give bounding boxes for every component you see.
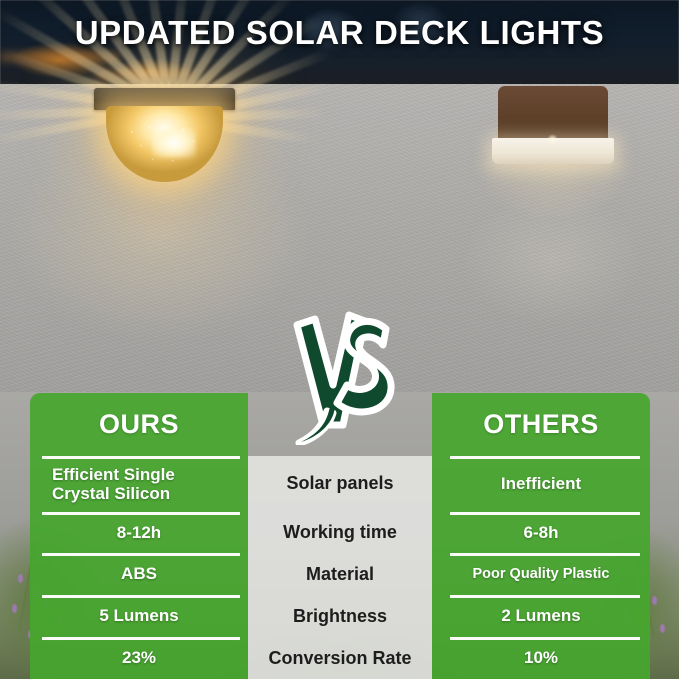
cell-others-working-time: 6-8h <box>432 512 650 554</box>
lit-solar-deck-light <box>92 88 237 188</box>
vs-badge-icon <box>289 307 401 445</box>
page-title: UPDATED SOLAR DECK LIGHTS <box>0 14 679 52</box>
row-divider <box>450 512 640 515</box>
row-divider <box>42 595 240 598</box>
row-divider <box>450 456 640 459</box>
lamp-led-filament <box>547 134 558 145</box>
table-row: 23% Conversion Rate 10% <box>30 637 650 679</box>
cell-others-conversion-rate: 10% <box>432 637 650 679</box>
cell-feature-working-time: Working time <box>248 512 432 554</box>
cell-feature-conversion-rate: Conversion Rate <box>248 637 432 679</box>
table-row: 5 Lumens Brightness 2 Lumens <box>30 595 650 637</box>
row-divider <box>450 637 640 640</box>
column-header-ours: OURS <box>30 393 248 456</box>
column-header-others: OTHERS <box>432 393 650 456</box>
table-row: ABS Material Poor Quality Plastic <box>30 553 650 595</box>
lamp-glass-dome <box>106 106 223 182</box>
cell-others-material: Poor Quality Plastic <box>432 553 650 595</box>
lamp-light-spill <box>470 160 638 220</box>
row-divider <box>450 595 640 598</box>
deck-light-streak <box>0 52 120 62</box>
infographic-canvas: UPDATED SOLAR DECK LIGHTS <box>0 0 679 679</box>
cell-others-solar-panels: Inefficient <box>432 456 650 512</box>
cell-others-brightness: 2 Lumens <box>432 595 650 637</box>
row-divider <box>42 456 240 459</box>
lamp-hotspot <box>152 128 196 158</box>
cell-ours-solar-panels: Efficient Single Crystal Silicon <box>30 456 248 512</box>
row-divider <box>450 553 640 556</box>
cell-feature-material: Material <box>248 553 432 595</box>
table-row: Efficient Single Crystal Silicon Solar p… <box>30 456 650 512</box>
row-divider <box>42 553 240 556</box>
table-row: 8-12h Working time 6-8h <box>30 512 650 554</box>
cell-feature-solar-panels: Solar panels <box>248 456 432 512</box>
cell-feature-brightness: Brightness <box>248 595 432 637</box>
cell-ours-material: ABS <box>30 553 248 595</box>
deck-light-streak <box>96 70 192 78</box>
row-divider <box>42 512 240 515</box>
cell-ours-brightness: 5 Lumens <box>30 595 248 637</box>
unlit-solar-deck-light <box>492 86 614 178</box>
cell-ours-conversion-rate: 23% <box>30 637 248 679</box>
row-divider <box>42 637 240 640</box>
cell-ours-working-time: 8-12h <box>30 512 248 554</box>
